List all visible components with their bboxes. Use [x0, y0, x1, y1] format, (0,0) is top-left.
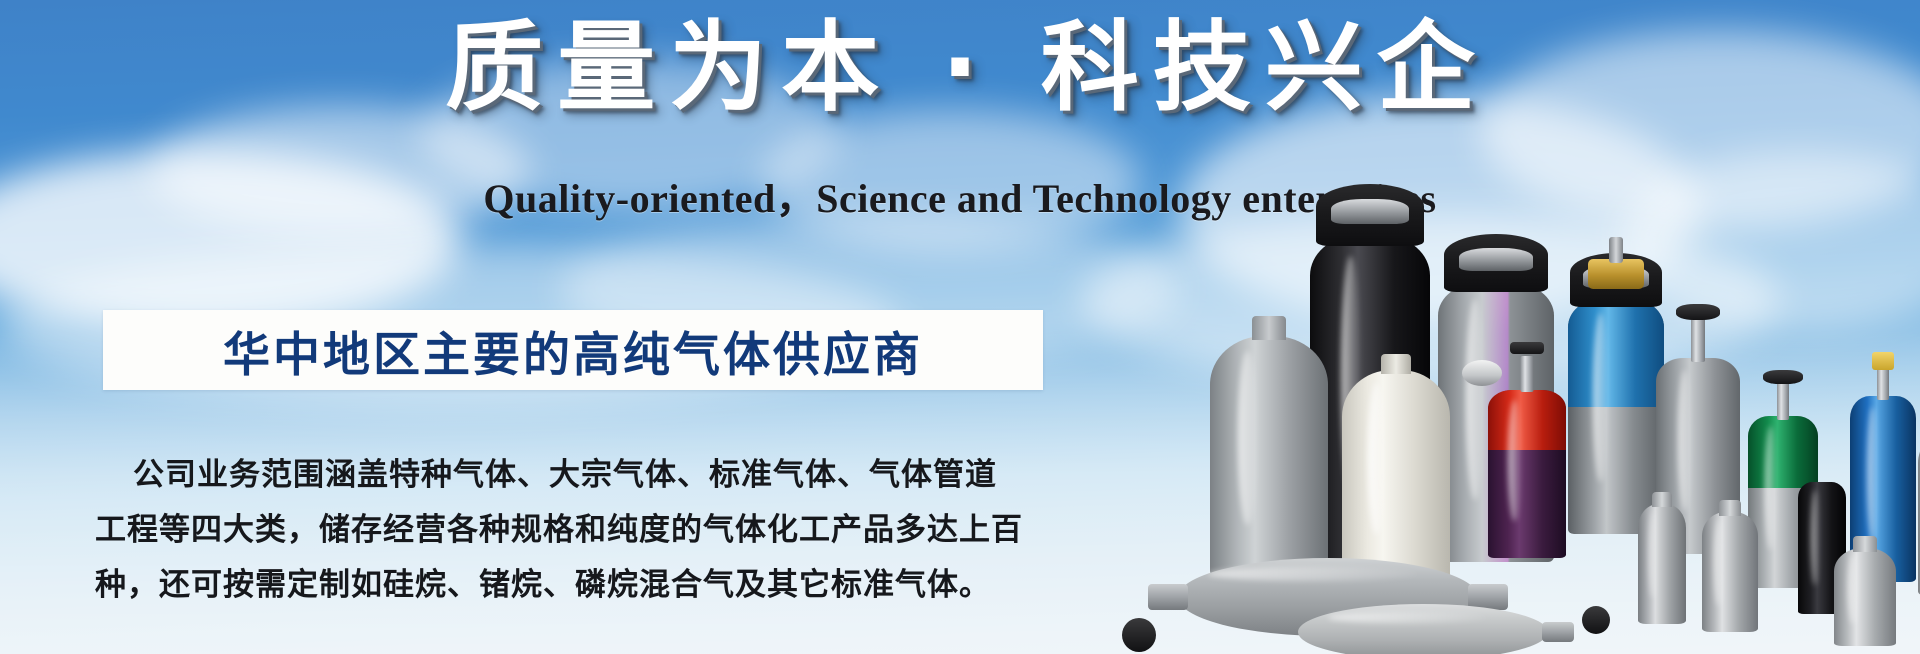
slogan-text: 华中地区主要的高纯气体供应商: [223, 316, 923, 385]
banner-headline-chinese: 质量为本 · 科技兴企: [0, 14, 1920, 124]
tank-stub: [1148, 584, 1188, 610]
valve-handle-icon: [1510, 342, 1544, 354]
valve-handwheel-icon: [1763, 370, 1803, 384]
light-grey-cylinder: [1210, 336, 1328, 578]
description-line-1: 公司业务范围涵盖特种气体、大宗气体、标准气体、气体管道: [95, 448, 1055, 503]
tank-valve-knob-icon: [1122, 618, 1156, 652]
yellow-valve-cap-icon: [1872, 352, 1894, 370]
tank-stub: [1542, 622, 1574, 642]
small-aluminium-cylinder: [1638, 504, 1686, 624]
red-purple-cylinder: [1488, 390, 1566, 558]
cylinder-neck: [1853, 536, 1877, 552]
description-line-2: 工程等四大类，储存经营各种规格和纯度的气体化工产品多达上百: [95, 503, 1055, 558]
slogan-box: 华中地区主要的高纯气体供应商: [103, 310, 1043, 390]
gas-cylinder-group: [1150, 170, 1920, 654]
cylinder-cap: [1316, 184, 1424, 246]
blue-grey-cylinder: [1568, 299, 1664, 534]
valve-handwheel-icon: [1676, 304, 1720, 320]
hero-banner: 质量为本 · 科技兴企 Quality-oriented，Science and…: [0, 0, 1920, 654]
small-aluminium-cylinder: [1834, 548, 1896, 646]
small-aluminium-cylinder: [1702, 512, 1758, 632]
cylinder-neck: [1381, 354, 1411, 374]
cylinder-neck: [1252, 316, 1286, 340]
regulator-gauge-icon: [1462, 360, 1502, 386]
horizontal-tank-small: [1298, 604, 1548, 654]
description-line-3: 种，还可按需定制如硅烷、锗烷、磷烷混合气及其它标准气体。: [95, 558, 1055, 613]
banner-description: 公司业务范围涵盖特种气体、大宗气体、标准气体、气体管道 工程等四大类，储存经营各…: [95, 448, 1055, 613]
cylinder-neck: [1719, 500, 1741, 516]
cream-white-cylinder: [1342, 370, 1450, 582]
cylinder-cap: [1444, 234, 1548, 292]
brass-valve-icon: [1588, 259, 1644, 289]
valve-stem-icon: [1609, 237, 1623, 263]
cylinder-neck: [1652, 492, 1672, 507]
tank-valve-knob-icon: [1582, 606, 1610, 634]
